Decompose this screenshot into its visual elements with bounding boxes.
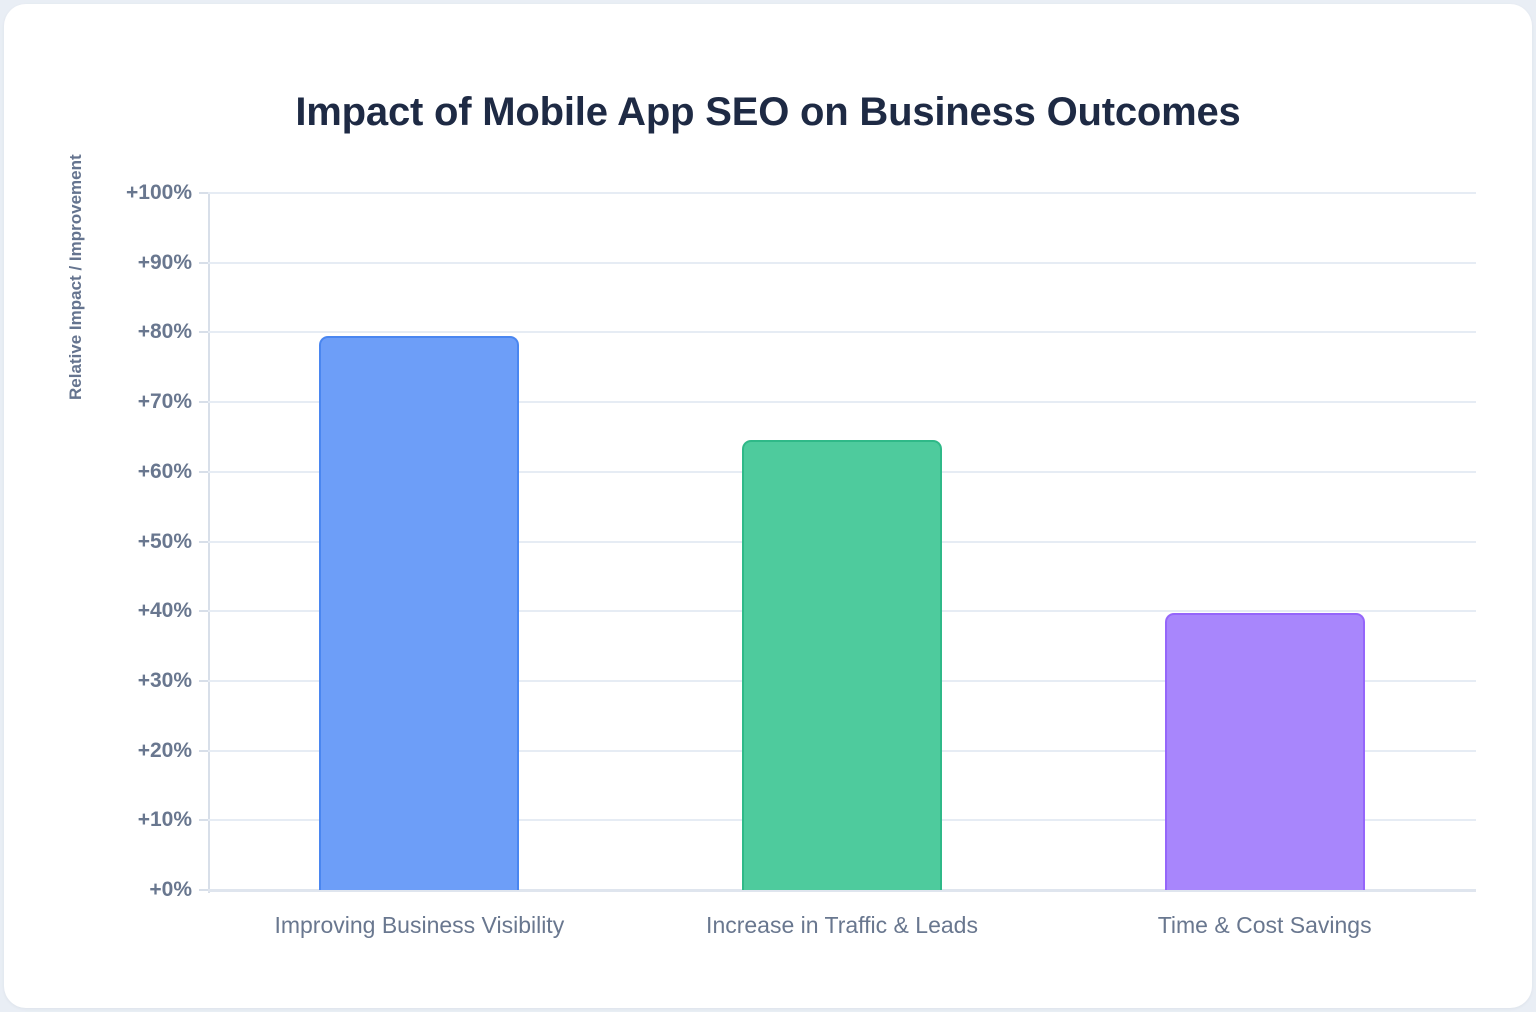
gridline: [208, 192, 1476, 194]
y-axis-tick-mark: [199, 471, 208, 473]
y-axis-tick-label: +60%: [82, 460, 192, 484]
bar-2: [1165, 613, 1365, 890]
chart-card: Impact of Mobile App SEO on Business Out…: [4, 4, 1532, 1008]
y-axis-tick-mark: [199, 750, 208, 752]
bar-0: [319, 336, 519, 890]
y-axis-tick-mark: [199, 401, 208, 403]
y-axis-tick-label: +20%: [82, 739, 192, 763]
y-axis-tick-labels: +100%+90%+80%+70%+60%+50%+40%+30%+20%+10…: [82, 193, 192, 890]
y-axis-tick-mark: [199, 819, 208, 821]
y-axis-tick-mark: [199, 262, 208, 264]
y-axis-tick-label: +90%: [82, 251, 192, 275]
y-axis-tick-mark: [199, 610, 208, 612]
plot-inner: [208, 193, 1476, 890]
y-axis-tick-mark: [199, 680, 208, 682]
y-axis-tick-label: +70%: [82, 390, 192, 414]
bar-1: [742, 440, 942, 890]
x-axis-tick-label: Improving Business Visibility: [274, 912, 564, 939]
y-axis-tick-label: +0%: [82, 878, 192, 902]
y-axis-tick-label: +80%: [82, 320, 192, 344]
gridline: [208, 331, 1476, 333]
x-axis-tick-label: Time & Cost Savings: [1158, 912, 1372, 939]
plot-area: [208, 193, 1476, 890]
y-axis-tick-label: +30%: [82, 669, 192, 693]
y-axis-tick-mark: [199, 889, 208, 891]
y-axis-tick-mark: [199, 541, 208, 543]
y-axis-line: [208, 193, 210, 893]
y-axis-tick-mark: [199, 331, 208, 333]
y-axis-tick-label: +10%: [82, 808, 192, 832]
y-axis-tick-label: +50%: [82, 530, 192, 554]
y-axis-tick-label: +100%: [82, 181, 192, 205]
gridline: [208, 262, 1476, 264]
y-axis-tick-label: +40%: [82, 599, 192, 623]
chart-title: Impact of Mobile App SEO on Business Out…: [4, 90, 1532, 135]
y-axis-tick-mark: [199, 192, 208, 194]
x-axis-tick-label: Increase in Traffic & Leads: [706, 912, 978, 939]
